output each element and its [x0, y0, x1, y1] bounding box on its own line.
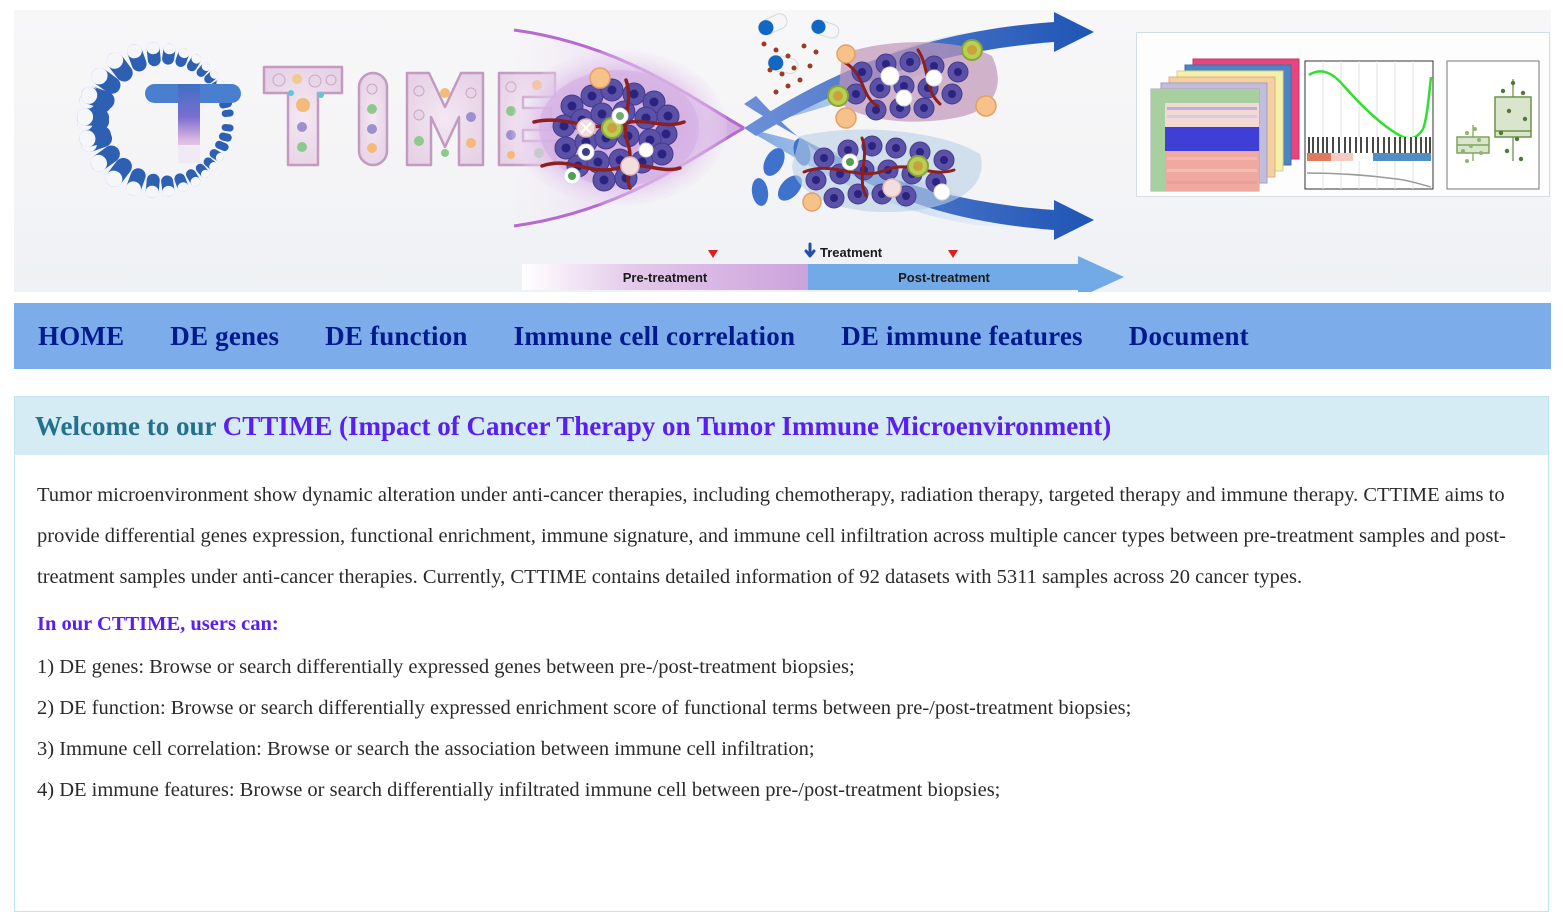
list-item: 4) DE immune features: Browse or search … — [37, 770, 1526, 811]
site-banner: Treatment Pre-treatment Post-treatment — [14, 10, 1551, 292]
nav-item-de-genes[interactable]: DE genes — [170, 321, 279, 352]
welcome-panel-header: Welcome to our CTTIME (Impact of Cancer … — [15, 397, 1548, 455]
list-item: 1) DE genes: Browse or search differenti… — [37, 647, 1526, 688]
page-title-prefix: Welcome to our — [35, 411, 223, 441]
gsea-plot — [1305, 61, 1433, 189]
nav-item-immune-cell-correlation[interactable]: Immune cell correlation — [514, 321, 796, 352]
nav-item-de-immune-features[interactable]: DE immune features — [841, 321, 1083, 352]
timeline-pre-label: Pre-treatment — [623, 270, 708, 285]
tme-illustration — [494, 10, 1174, 250]
welcome-panel-body: Tumor microenvironment show dynamic alte… — [15, 455, 1548, 811]
main-navigation: HOME DE genes DE function Immune cell co… — [14, 303, 1551, 369]
results-figure-panel — [1136, 32, 1550, 197]
treatment-marker: Treatment — [806, 244, 883, 260]
page-title-highlight: CTTIME (Impact of Cancer Therapy on Tumo… — [223, 411, 1112, 441]
page-root: Treatment Pre-treatment Post-treatment H… — [0, 0, 1563, 924]
boxplot-figure — [1447, 61, 1539, 189]
nav-item-home[interactable]: HOME — [38, 321, 124, 352]
nav-item-document[interactable]: Document — [1129, 321, 1249, 352]
heatmap-front — [1151, 89, 1259, 191]
treatment-timeline: Treatment Pre-treatment Post-treatment — [514, 238, 1154, 292]
nav-item-de-function[interactable]: DE function — [325, 321, 467, 352]
welcome-panel: Welcome to our CTTIME (Impact of Cancer … — [14, 396, 1549, 912]
intro-paragraph: Tumor microenvironment show dynamic alte… — [37, 475, 1526, 598]
usage-subheading: In our CTTIME, users can: — [37, 604, 1526, 645]
site-logo[interactable] — [59, 35, 559, 205]
timeline-post-label: Post-treatment — [898, 270, 990, 285]
list-item: 2) DE function: Browse or search differe… — [37, 688, 1526, 729]
timeline-treatment-label: Treatment — [820, 245, 883, 260]
heatmap-stack — [1151, 59, 1299, 191]
page-title: Welcome to our CTTIME (Impact of Cancer … — [35, 411, 1111, 442]
list-item: 3) Immune cell correlation: Browse or se… — [37, 729, 1526, 770]
post-tumor-clusters — [792, 40, 998, 212]
